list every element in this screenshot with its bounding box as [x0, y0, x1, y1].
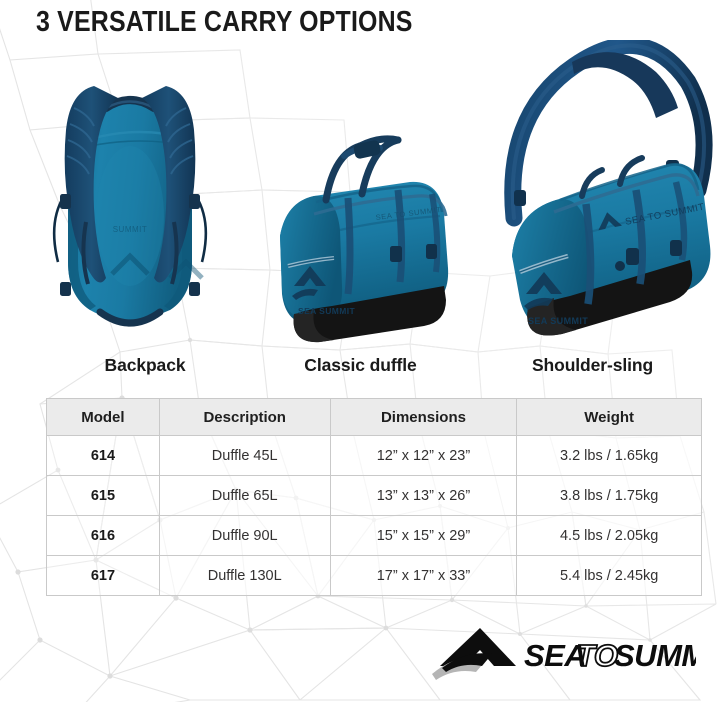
product-item-shoulder-sling: SEA SUMMIT SEA TO SUMMIT Shoulder-sling	[470, 46, 715, 376]
cell-description: Duffle 130L	[159, 556, 330, 596]
cell-model: 616	[47, 516, 160, 556]
cell-dimensions: 12” x 12” x 23”	[330, 436, 517, 476]
cell-weight: 4.5 lbs / 2.05kg	[517, 516, 702, 556]
spec-table: Model Description Dimensions Weight 614 …	[46, 398, 702, 596]
cell-description: Duffle 65L	[159, 476, 330, 516]
sea-to-summit-mountain-icon	[432, 628, 516, 680]
cell-description: Duffle 90L	[159, 516, 330, 556]
product-item-classic-duffle: SEA SUMMIT SEA TO SUMMIT Classic duffle	[258, 46, 463, 376]
table-row: 616 Duffle 90L 15” x 15” x 29” 4.5 lbs /…	[47, 516, 702, 556]
cell-dimensions: 13” x 13” x 26”	[330, 476, 517, 516]
cell-dimensions: 17” x 17” x 33”	[330, 556, 517, 596]
cell-model: 614	[47, 436, 160, 476]
sea-to-summit-logo: SEA TO SUMMIT	[424, 622, 696, 684]
column-header-description: Description	[159, 399, 330, 436]
product-item-backpack: SUMMIT Backpack	[20, 46, 270, 376]
svg-text:SUMMIT: SUMMIT	[113, 225, 148, 234]
product-gallery: SUMMIT Backpack	[0, 46, 720, 376]
cell-weight: 3.2 lbs / 1.65kg	[517, 436, 702, 476]
product-caption-shoulder-sling: Shoulder-sling	[470, 355, 715, 376]
logo-text-summit: SUMMIT	[614, 638, 696, 673]
column-header-weight: Weight	[517, 399, 702, 436]
logo-text-to: TO	[576, 638, 618, 673]
cell-dimensions: 15” x 15” x 29”	[330, 516, 517, 556]
backpack-illustration: SUMMIT	[20, 46, 270, 336]
column-header-dimensions: Dimensions	[330, 399, 517, 436]
cell-model: 617	[47, 556, 160, 596]
product-caption-classic-duffle: Classic duffle	[258, 355, 463, 376]
table-row: 615 Duffle 65L 13” x 13” x 26” 3.8 lbs /…	[47, 476, 702, 516]
table-row: 614 Duffle 45L 12” x 12” x 23” 3.2 lbs /…	[47, 436, 702, 476]
svg-text:SEA SUMMIT: SEA SUMMIT	[528, 316, 588, 326]
cell-model: 615	[47, 476, 160, 516]
cell-weight: 5.4 lbs / 2.45kg	[517, 556, 702, 596]
svg-text:SEA SUMMIT: SEA SUMMIT	[298, 306, 355, 316]
page-title: 3 VERSATILE CARRY OPTIONS	[36, 6, 413, 39]
cell-weight: 3.8 lbs / 1.75kg	[517, 476, 702, 516]
shoulder-sling-illustration: SEA SUMMIT SEA TO SUMMIT	[470, 40, 715, 340]
table-row: 617 Duffle 130L 17” x 17” x 33” 5.4 lbs …	[47, 556, 702, 596]
product-caption-backpack: Backpack	[20, 355, 270, 376]
table-header-row: Model Description Dimensions Weight	[47, 399, 702, 436]
cell-description: Duffle 45L	[159, 436, 330, 476]
column-header-model: Model	[47, 399, 160, 436]
